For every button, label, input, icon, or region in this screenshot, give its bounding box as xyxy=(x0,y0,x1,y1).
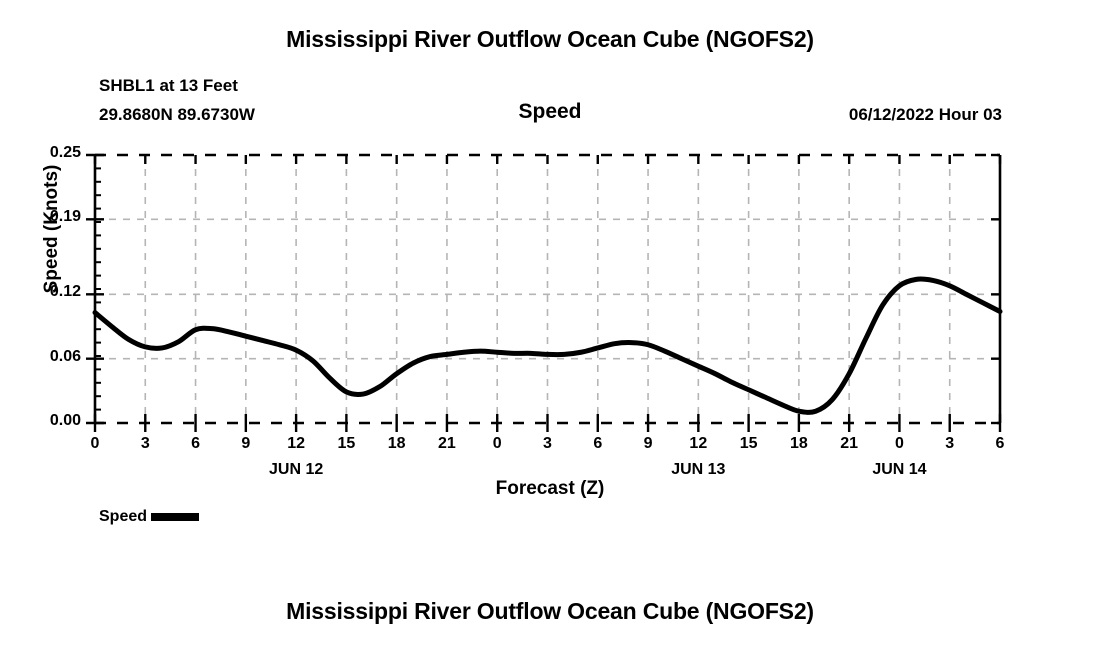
x-tick-label: 6 xyxy=(578,435,618,453)
x-tick-label: 12 xyxy=(276,435,316,453)
x-tick-label: 18 xyxy=(779,435,819,453)
day-label: JUN 13 xyxy=(638,461,758,479)
page-title-bottom: Mississippi River Outflow Ocean Cube (NG… xyxy=(0,598,1100,625)
x-tick-label: 21 xyxy=(427,435,467,453)
x-tick-label: 3 xyxy=(528,435,568,453)
chart-page: Mississippi River Outflow Ocean Cube (NG… xyxy=(0,0,1100,650)
plot-area: Speed (Knots) Forecast (Z) 0.000.060.120… xyxy=(0,0,1100,650)
y-tick-label: 0.00 xyxy=(11,412,81,430)
x-tick-label: 15 xyxy=(729,435,769,453)
x-tick-label: 0 xyxy=(75,435,115,453)
x-axis-title: Forecast (Z) xyxy=(0,478,1100,500)
x-tick-label: 3 xyxy=(125,435,165,453)
x-tick-label: 6 xyxy=(176,435,216,453)
y-tick-label: 0.12 xyxy=(11,283,81,301)
x-tick-label: 15 xyxy=(326,435,366,453)
x-tick-label: 9 xyxy=(628,435,668,453)
x-tick-label: 18 xyxy=(377,435,417,453)
day-label: JUN 12 xyxy=(236,461,356,479)
day-label: JUN 14 xyxy=(839,461,959,479)
speed-time-series-chart xyxy=(0,0,1100,650)
chart-legend: Speed xyxy=(99,508,199,526)
legend-swatch-speed xyxy=(151,513,199,521)
x-tick-label: 12 xyxy=(678,435,718,453)
gridlines xyxy=(95,155,1000,423)
x-tick-label: 0 xyxy=(477,435,517,453)
x-tick-label: 21 xyxy=(829,435,869,453)
y-tick-label: 0.19 xyxy=(11,208,81,226)
x-tick-label: 6 xyxy=(980,435,1020,453)
y-tick-label: 0.25 xyxy=(11,144,81,162)
x-tick-label: 0 xyxy=(879,435,919,453)
x-tick-label: 9 xyxy=(226,435,266,453)
legend-label-speed: Speed xyxy=(99,508,147,526)
y-tick-label: 0.06 xyxy=(11,348,81,366)
axis-ticks xyxy=(86,155,1000,432)
x-tick-label: 3 xyxy=(930,435,970,453)
